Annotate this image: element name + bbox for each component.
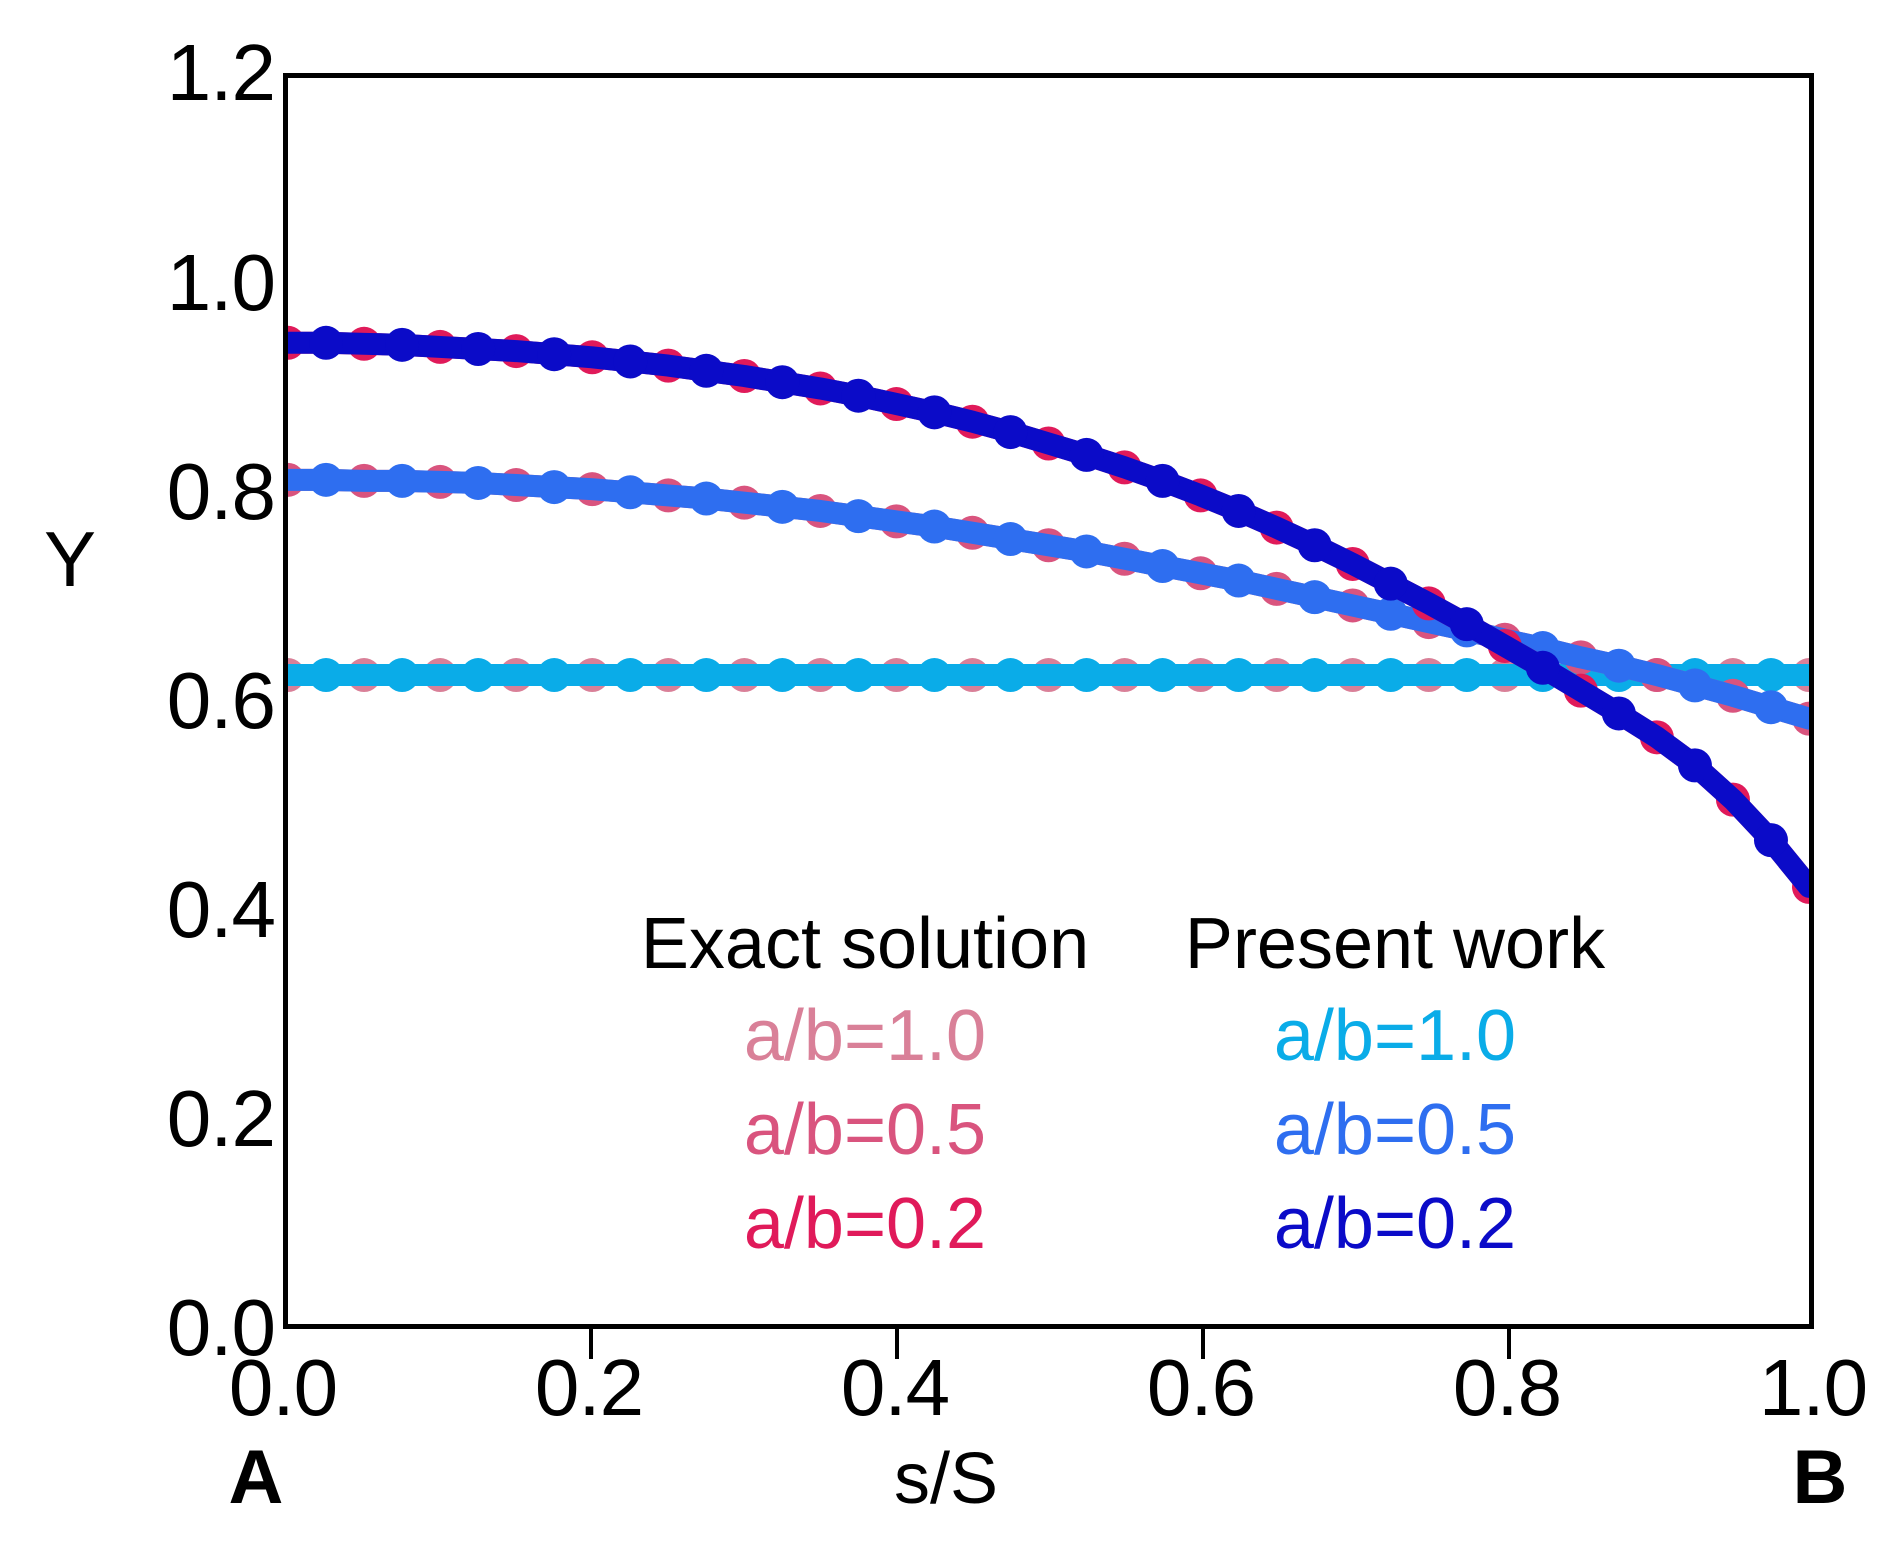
- legend-row-ab-0-2: a/b=0.2 a/b=0.2: [600, 1184, 1700, 1264]
- y-tick-label-1.2: 1.2: [35, 33, 275, 113]
- y-tick-label-0.2: 0.2: [35, 1079, 275, 1159]
- y-tick-label-0.4: 0.4: [35, 870, 275, 950]
- figure-root: Y 1.2 1.0 0.8 0.6 0.4 0.2 0.0 0.0 0.2 0.…: [0, 0, 1892, 1563]
- y-tick-label-0.8: 0.8: [35, 452, 275, 532]
- legend-present-ab-1-0: a/b=1.0: [1274, 996, 1516, 1076]
- x-tick-label-0.0: 0.0: [153, 1348, 413, 1428]
- legend-exact-ab-1-0: a/b=1.0: [744, 996, 986, 1076]
- legend-present-ab-0-5: a/b=0.5: [1274, 1090, 1516, 1170]
- legend-col-exact: Exact solution: [600, 906, 1130, 982]
- x-tick-label-0.2: 0.2: [459, 1348, 719, 1428]
- legend-exact-ab-0-2: a/b=0.2: [744, 1184, 986, 1264]
- legend-row-ab-1-0: a/b=1.0 a/b=1.0: [600, 996, 1700, 1076]
- x-endpoint-label-b: B: [1760, 1440, 1880, 1516]
- chart-legend: Exact solution Present work a/b=1.0 a/b=…: [600, 906, 1700, 1264]
- x-axis-title: s/S: [816, 1443, 1076, 1515]
- legend-row-ab-0-5: a/b=0.5 a/b=0.5: [600, 1090, 1700, 1170]
- x-tick-label-1.0: 1.0: [1683, 1348, 1892, 1428]
- legend-present-ab-0-2: a/b=0.2: [1274, 1184, 1516, 1264]
- x-tick-label-0.6: 0.6: [1071, 1348, 1331, 1428]
- x-tick-label-0.8: 0.8: [1377, 1348, 1637, 1428]
- legend-col-present: Present work: [1130, 906, 1660, 982]
- legend-heading-present: Present work: [1185, 904, 1605, 984]
- series-present-work-a-b-0-2: [288, 326, 1809, 887]
- y-tick-label-0.6: 0.6: [35, 661, 275, 741]
- x-endpoint-label-a: A: [196, 1440, 316, 1516]
- y-tick-label-1.0: 1.0: [35, 243, 275, 323]
- series-exact-solution-a-b-0-2: [288, 326, 1809, 904]
- legend-exact-ab-0-5: a/b=0.5: [744, 1090, 986, 1170]
- x-tick-label-0.4: 0.4: [765, 1348, 1025, 1428]
- legend-heading-exact: Exact solution: [641, 904, 1089, 984]
- legend-heading-row: Exact solution Present work: [600, 906, 1700, 982]
